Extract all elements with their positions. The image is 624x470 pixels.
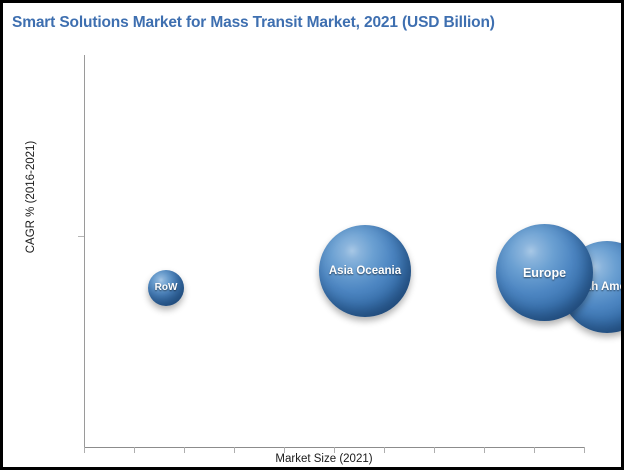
x-axis-tick (484, 447, 485, 453)
bubble-row[interactable]: RoW (148, 270, 184, 306)
x-axis-tick (84, 447, 85, 453)
plot-area: RoW Asia Oceania Europe North America (84, 55, 584, 447)
x-axis-tick (184, 447, 185, 453)
x-axis-tick (584, 447, 585, 453)
chart-figure: Smart Solutions Market for Mass Transit … (0, 0, 624, 470)
x-axis-tick (534, 447, 535, 453)
chart-title: Smart Solutions Market for Mass Transit … (12, 12, 618, 34)
bubble-asia-oceania[interactable]: Asia Oceania (319, 225, 411, 317)
bubble-label-row: RoW (155, 282, 178, 293)
y-axis-title: CAGR % (2016-2021) (25, 117, 37, 277)
x-axis-tick (134, 447, 135, 453)
bubble-label-europe: Europe (523, 266, 566, 280)
x-axis-title: Market Size (2021) (204, 453, 444, 465)
bubble-europe[interactable]: Europe (496, 224, 593, 321)
bubble-label-asia-oceania: Asia Oceania (329, 265, 401, 278)
